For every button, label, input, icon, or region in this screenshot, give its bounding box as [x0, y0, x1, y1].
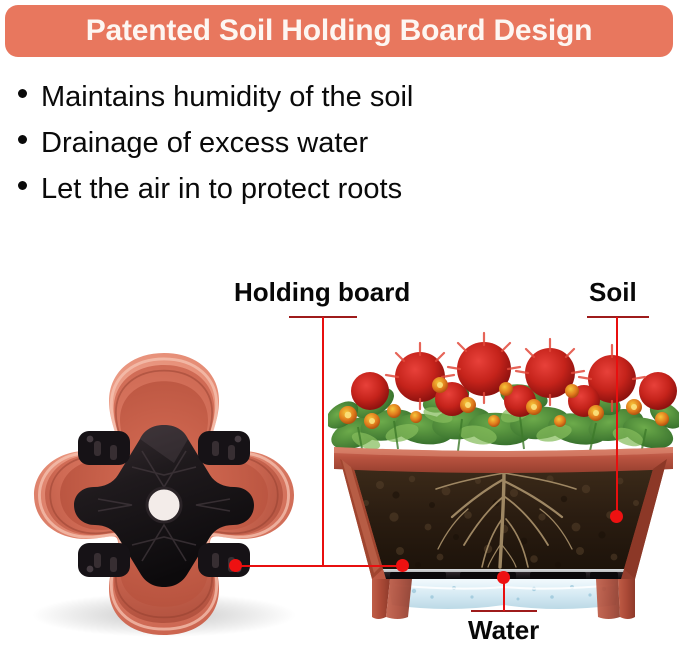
feature-text: Let the air in to protect roots [41, 166, 402, 212]
feature-text: Drainage of excess water [41, 120, 368, 166]
bullet-dot-icon [18, 89, 27, 98]
four-lobe-planter-top-view [14, 347, 314, 637]
holding-board-leader-stem [322, 317, 324, 567]
holding-board-leader-run-right [322, 565, 404, 567]
feature-text: Maintains humidity of the soil [41, 74, 413, 120]
callout-label-water: Water [468, 617, 539, 643]
holding-board-leader-run-left [236, 565, 324, 567]
product-diagram: Holding board Soil Water [0, 255, 679, 652]
list-item: Drainage of excess water [18, 120, 538, 166]
bullet-dot-icon [18, 135, 27, 144]
callout-label-soil: Soil [589, 279, 637, 305]
holding-board-insert [74, 425, 254, 587]
holding-board-marker-left [229, 559, 242, 572]
list-item: Maintains humidity of the soil [18, 74, 538, 120]
callout-label-holding-board: Holding board [234, 279, 410, 305]
soil-leader-cap [587, 316, 649, 318]
page-title: Patented Soil Holding Board Design [86, 16, 593, 46]
list-item: Let the air in to protect roots [18, 166, 538, 212]
page-title-banner: Patented Soil Holding Board Design [5, 5, 673, 57]
water-marker [497, 571, 510, 584]
feature-list: Maintains humidity of the soil Drainage … [18, 74, 538, 212]
soil-marker [610, 510, 623, 523]
bullet-dot-icon [18, 181, 27, 190]
soil-leader-stem [616, 317, 618, 516]
holding-board-marker-right [396, 559, 409, 572]
